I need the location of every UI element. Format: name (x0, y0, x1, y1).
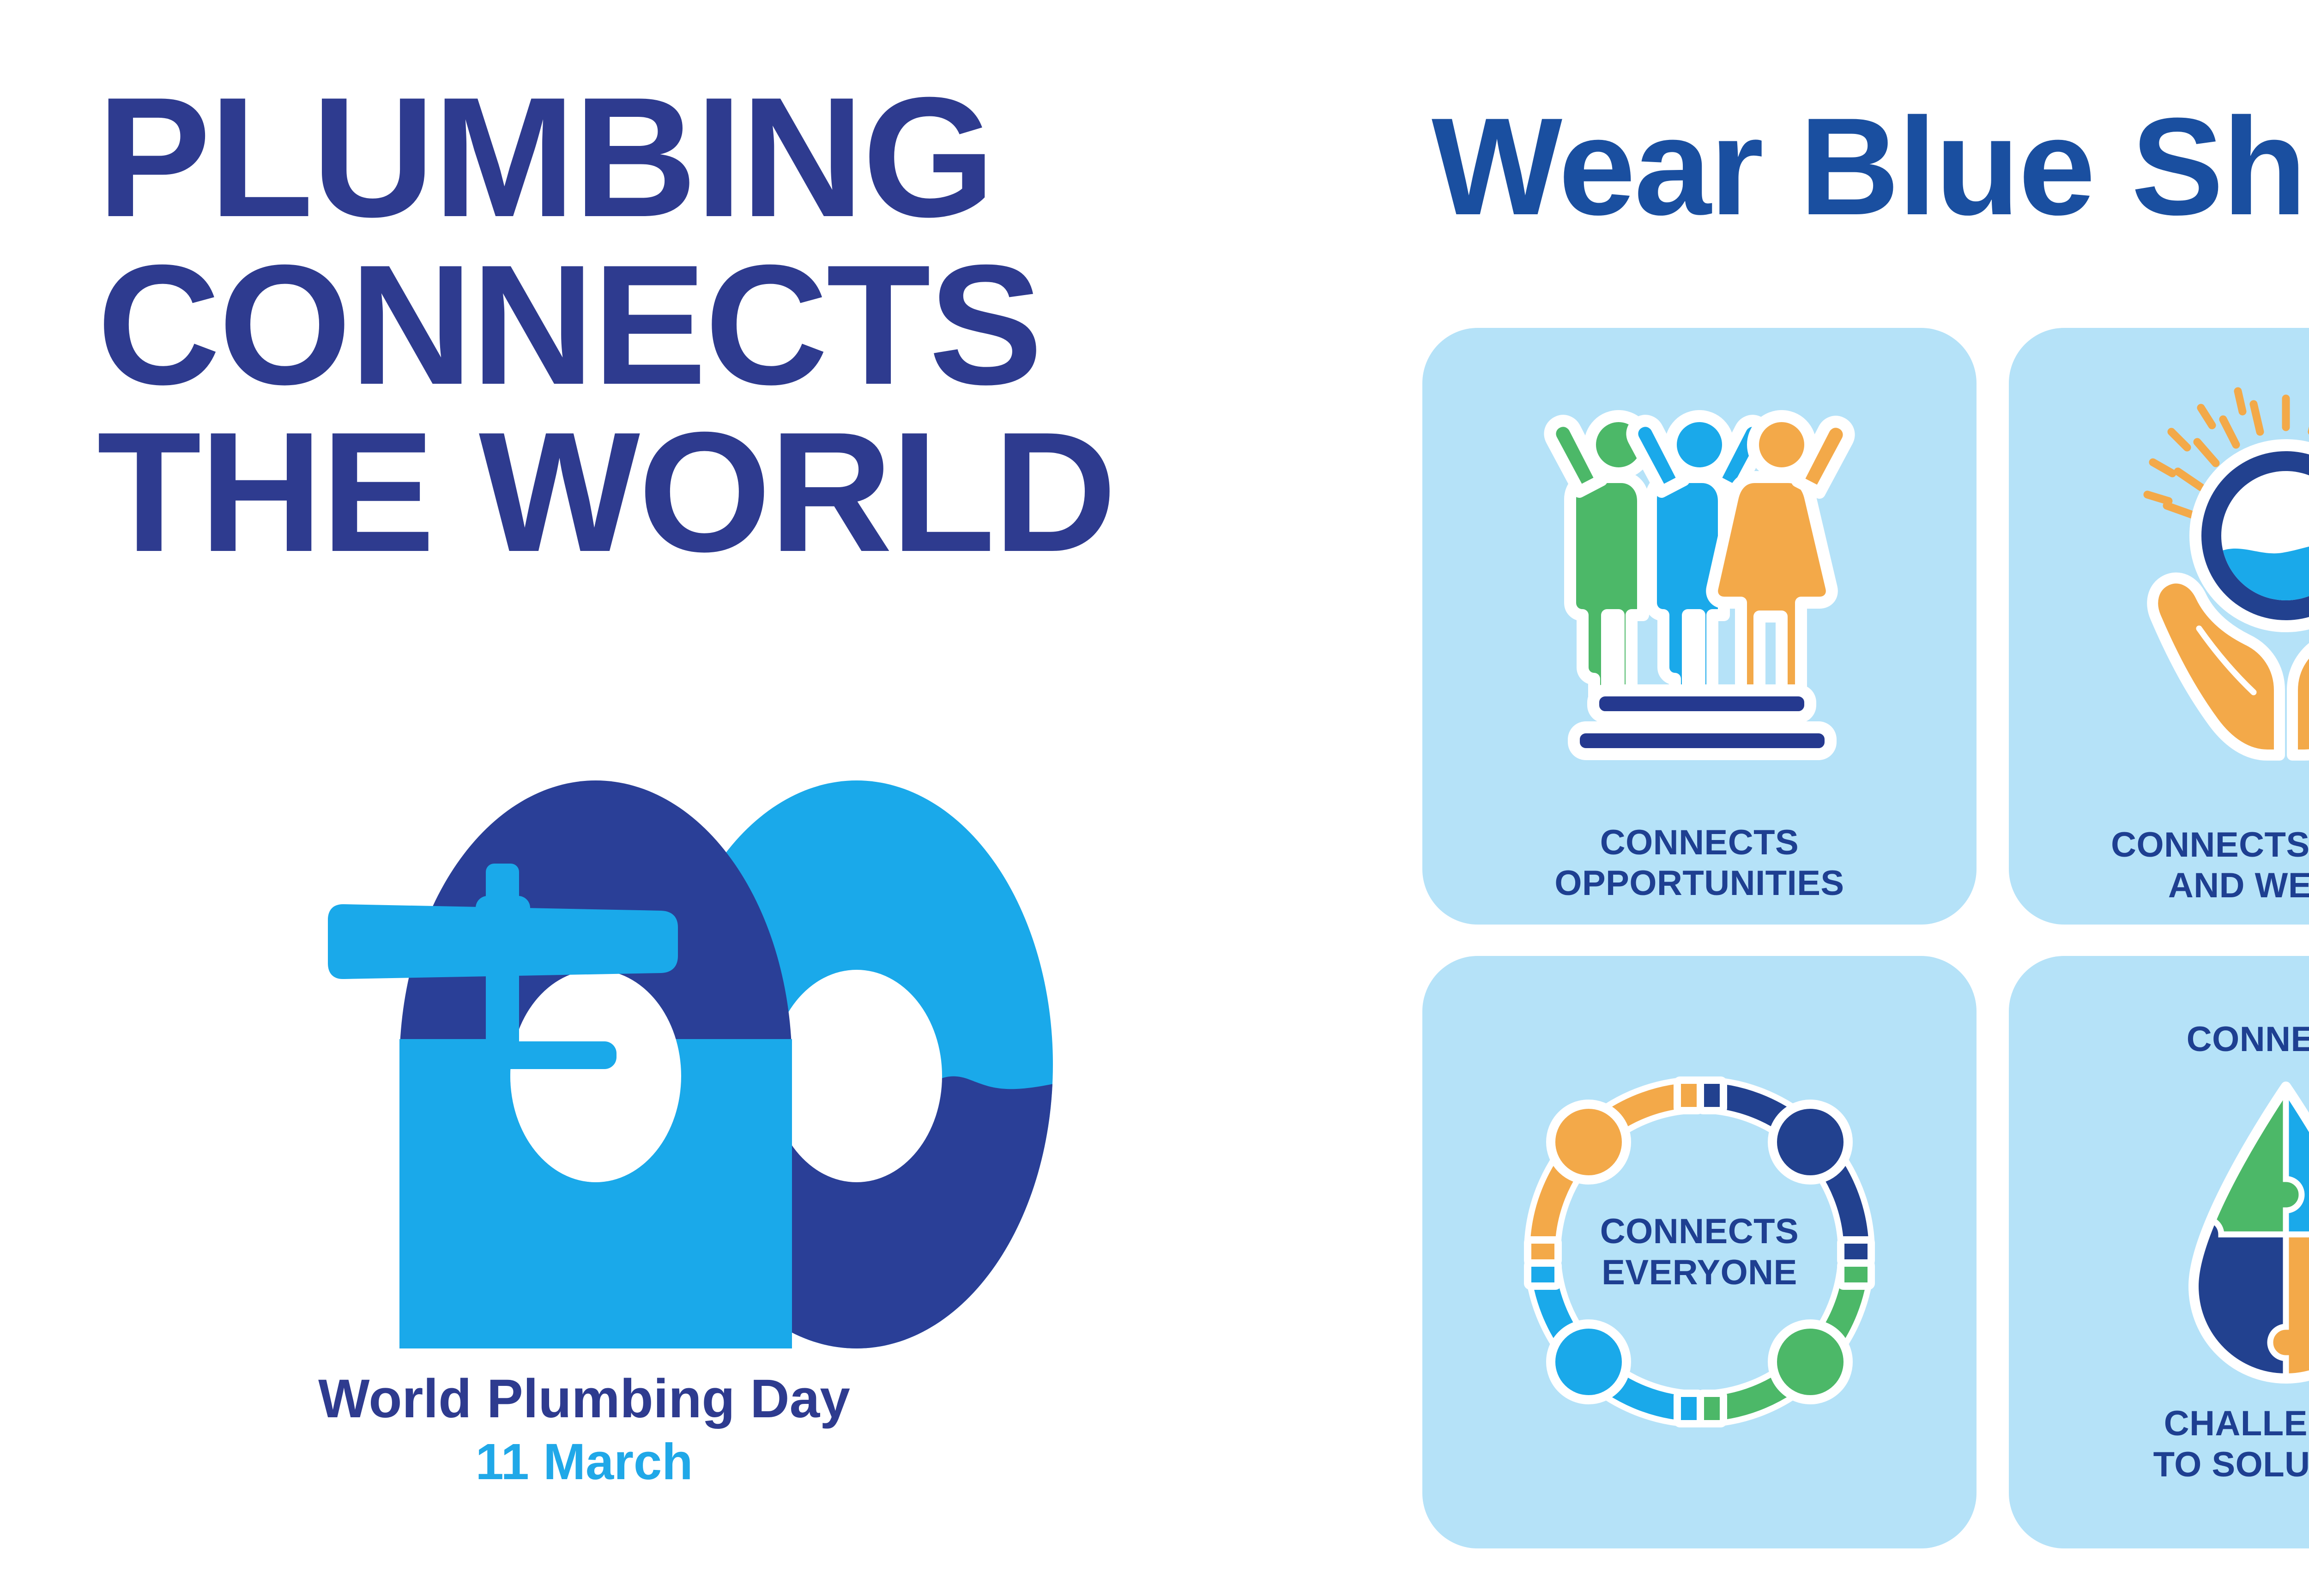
card-label-line-2: AND WEALTH (2111, 865, 2309, 906)
card-label-line-2: TO SOLUTIONS (2153, 1445, 2309, 1485)
headline-line-3: THE WORLD (97, 409, 1344, 576)
card-label-solutions-bottom: CHALLENGES TO SOLUTIONS (2153, 1403, 2309, 1485)
left-panel: PLUMBING CONNECTS THE WORLD (0, 0, 1376, 1596)
puzzle-droplet-icon (2023, 1068, 2309, 1391)
card-connects-opportunities[interactable]: CONNECTS OPPORTUNITIES (1422, 328, 1977, 925)
world-plumbing-day-date: 11 March (0, 1431, 1168, 1493)
page-title: PLUMBING CONNECTS THE WORLD (97, 74, 1344, 576)
card-label-line-1: CONNECTS (1483, 1211, 1916, 1252)
right-panel: Wear Blue Share Blue (1376, 0, 2309, 1596)
card-label-opportunities: CONNECTS OPPORTUNITIES (1554, 822, 1844, 904)
card-label-solutions-top: CONNECTS (2187, 1019, 2309, 1060)
world-plumbing-day-infinity-tap-logo (277, 780, 1145, 1348)
card-label-line-2: EVERYONE (1483, 1252, 1916, 1293)
card-connects-health-and-wealth[interactable]: CONNECTS HEALTH AND WEALTH (2009, 328, 2309, 925)
headline-line-2: CONNECTS (97, 242, 1344, 409)
three-people-raised-arms-icon (1436, 349, 1963, 810)
logo-caption: World Plumbing Day 11 March (0, 1367, 1168, 1493)
card-label-line-1: CONNECTS HEALTH (2111, 825, 2309, 865)
card-connects-challenges-to-solutions[interactable]: CONNECTS (2009, 956, 2309, 1548)
card-label-line-1: CONNECTS (1554, 822, 1844, 863)
card-label-health: CONNECTS HEALTH AND WEALTH (2111, 825, 2309, 906)
card-label-line-1: CHALLENGES (2153, 1403, 2309, 1444)
world-plumbing-day-label: World Plumbing Day (0, 1367, 1168, 1431)
campaign-subheading: Wear Blue Share Blue (1432, 97, 2309, 236)
headline-line-1: PLUMBING (97, 74, 1344, 242)
icon-card-grid: CONNECTS OPPORTUNITIES (1422, 328, 2309, 1455)
card-label-top-line-1: CONNECTS (2187, 1019, 2309, 1060)
hands-holding-water-globe-icon (2023, 346, 2309, 813)
card-label-line-2: OPPORTUNITIES (1554, 863, 1844, 904)
card-connects-everyone[interactable]: CONNECTS EVERYONE (1422, 956, 1977, 1548)
card-label-everyone: CONNECTS EVERYONE (1483, 1211, 1916, 1293)
